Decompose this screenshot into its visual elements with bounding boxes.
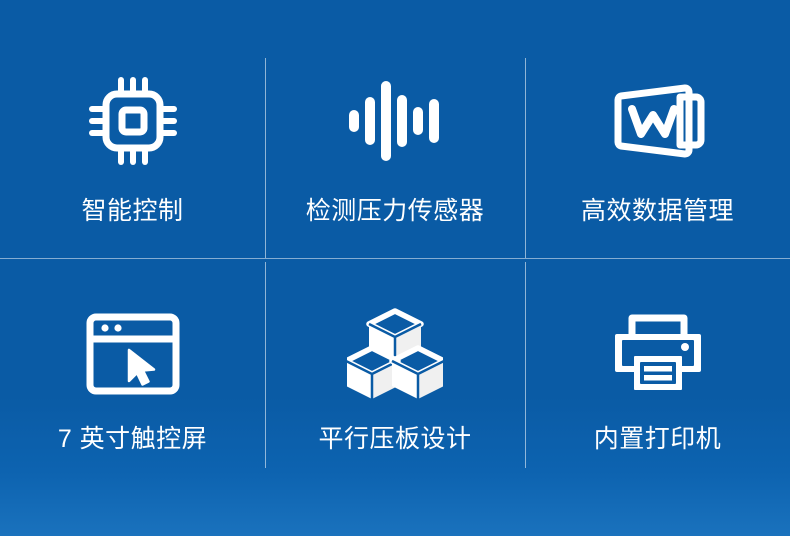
feature-cell-touchscreen[interactable]: 7 英寸触控屏 — [0, 258, 265, 492]
feature-highlight-banner: { "theme": { "background_color": "#0a5ba… — [0, 0, 790, 536]
divider-vertical-bottom-left — [265, 262, 266, 468]
feature-grid: 智能控制 检测压力传感器 高效数 — [0, 0, 790, 492]
word-document-icon — [603, 66, 713, 176]
feature-label-smart-control: 智能控制 — [81, 196, 183, 226]
feature-label-data-management: 高效数据管理 — [581, 196, 734, 226]
feature-label-pressure-sensor: 检测压力传感器 — [306, 196, 485, 226]
waveform-icon — [340, 66, 450, 176]
cubes-icon — [343, 306, 447, 402]
feature-cell-smart-control[interactable]: 智能控制 — [0, 0, 265, 258]
divider-horizontal — [0, 258, 790, 259]
feature-cell-parallel-platen[interactable]: 平行压板设计 — [265, 258, 525, 492]
feature-label-touchscreen: 7 英寸触控屏 — [58, 424, 207, 454]
divider-vertical-top-right — [525, 58, 526, 258]
printer-icon — [606, 306, 710, 402]
feature-label-built-in-printer: 内置打印机 — [594, 424, 722, 454]
window-cursor-icon — [81, 306, 185, 402]
divider-vertical-bottom-right — [525, 262, 526, 468]
feature-label-parallel-platen: 平行压板设计 — [318, 424, 471, 454]
feature-cell-built-in-printer[interactable]: 内置打印机 — [525, 258, 790, 492]
feature-cell-pressure-sensor[interactable]: 检测压力传感器 — [265, 0, 525, 258]
feature-cell-data-management[interactable]: 高效数据管理 — [525, 0, 790, 258]
chip-icon — [78, 66, 188, 176]
divider-vertical-top-left — [265, 58, 266, 258]
